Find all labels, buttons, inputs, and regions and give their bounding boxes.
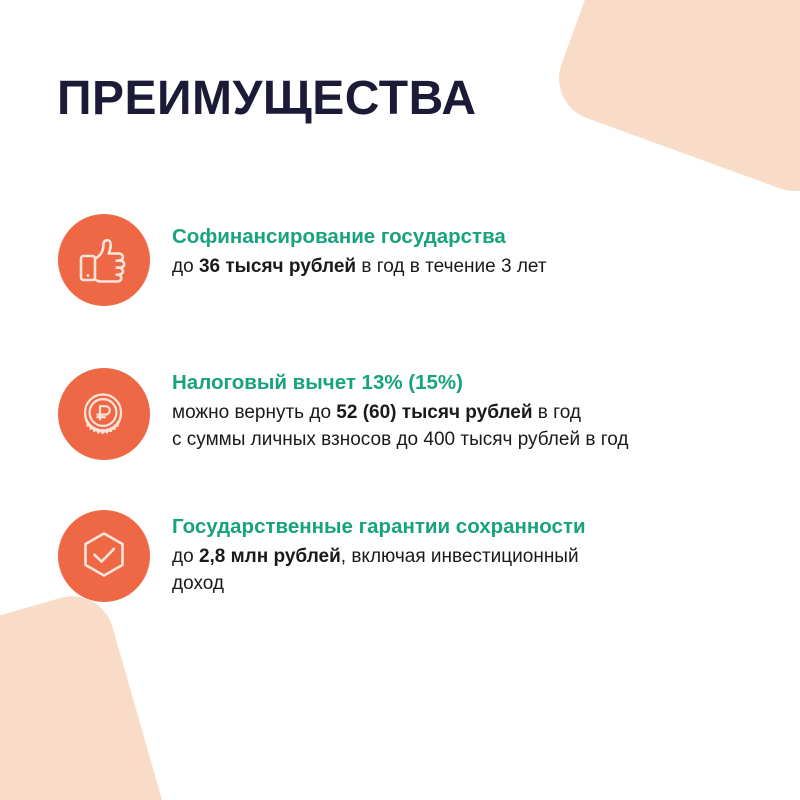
benefit-highlight: 2,8 млн рублей xyxy=(199,546,341,567)
decoration-top-right-rounded-square xyxy=(547,0,800,203)
decoration-bottom-left-rounded-square xyxy=(0,586,184,800)
benefit-body-text: доход xyxy=(172,573,224,594)
benefit-body: до 36 тысяч рублей в год в течение 3 лет xyxy=(172,254,800,281)
benefit-body-line: до 2,8 млн рублей, включая инвестиционны… xyxy=(172,544,800,571)
benefit-body-text: в год xyxy=(533,402,581,423)
benefit-heading: Налоговый вычет 13% (15%) xyxy=(172,370,800,396)
benefit-item-cofinancing: Софинансирование государства до 36 тысяч… xyxy=(0,202,800,306)
benefit-body-text: , включая инвестиционный xyxy=(341,546,579,567)
benefit-heading: Софинансирование государства xyxy=(172,224,800,250)
benefit-icon-badge xyxy=(58,214,150,306)
benefit-body-line: с суммы личных взносов до 400 тысяч рубл… xyxy=(172,427,800,454)
benefit-body-text: до xyxy=(172,256,199,277)
benefit-body-text: с суммы личных взносов до 400 тысяч рубл… xyxy=(172,429,628,450)
benefit-body-line: можно вернуть до 52 (60) тысяч рублей в … xyxy=(172,400,800,427)
benefits-list: Софинансирование государства до 36 тысяч… xyxy=(0,202,800,602)
benefit-body-line: доход xyxy=(172,571,800,598)
benefit-body: можно вернуть до 52 (60) тысяч рублей в … xyxy=(172,400,800,454)
benefit-body-text: можно вернуть до xyxy=(172,402,336,423)
slide-root: ПРЕИМУЩЕСТВА Софинансирование государс xyxy=(0,0,800,800)
benefit-body-text: до xyxy=(172,546,199,567)
benefit-highlight: 36 тысяч рублей xyxy=(199,256,356,277)
page-title: ПРЕИМУЩЕСТВА xyxy=(57,74,477,124)
benefit-heading: Государственные гарантии сохранности xyxy=(172,514,800,540)
benefit-body: до 2,8 млн рублей, включая инвестиционны… xyxy=(172,544,800,598)
ruble-coin-icon xyxy=(76,386,132,442)
hexagon-check-icon xyxy=(76,528,132,584)
benefit-icon-badge xyxy=(58,510,150,602)
benefit-body-text: в год в течение 3 лет xyxy=(356,256,546,277)
benefit-item-state-guarantee: Государственные гарантии сохранности до … xyxy=(0,498,800,602)
benefit-item-tax-deduction: Налоговый вычет 13% (15%) можно вернуть … xyxy=(0,356,800,460)
benefit-body-line: до 36 тысяч рублей в год в течение 3 лет xyxy=(172,254,800,281)
benefit-text-block: Софинансирование государства до 36 тысяч… xyxy=(150,202,800,281)
benefit-icon-badge xyxy=(58,368,150,460)
benefit-text-block: Государственные гарантии сохранности до … xyxy=(150,498,800,598)
benefit-highlight: 52 (60) тысяч рублей xyxy=(336,402,532,423)
thumbs-up-icon xyxy=(76,232,132,288)
benefit-text-block: Налоговый вычет 13% (15%) можно вернуть … xyxy=(150,356,800,454)
